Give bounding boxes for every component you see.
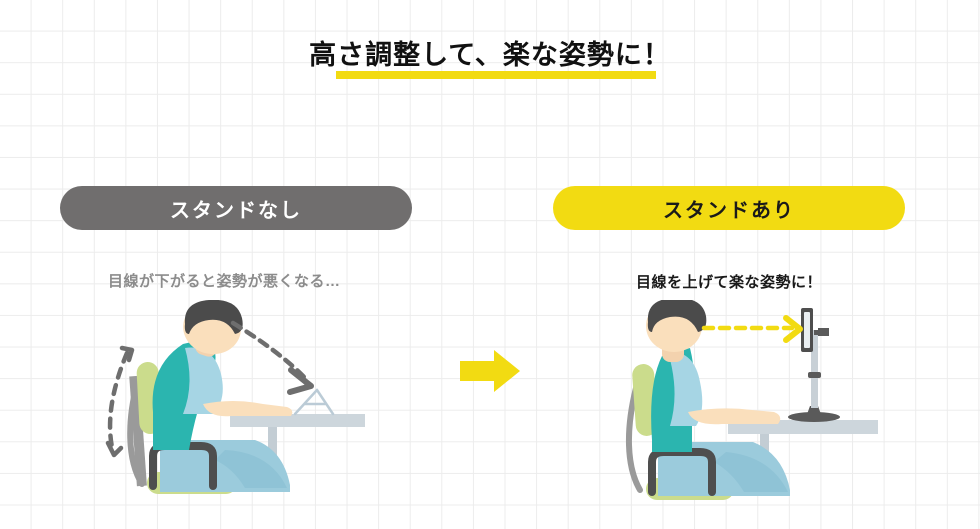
illustration-good-posture — [618, 300, 878, 529]
illustration-hunched-posture — [105, 300, 365, 529]
transition-arrow — [458, 348, 522, 394]
title-container: 高さ調整して、楽な姿勢に！ — [0, 42, 980, 75]
person-forearm-left — [203, 401, 292, 416]
label-pill-with-stand-text: スタンドあり — [663, 194, 795, 223]
gaze-arrow-right — [704, 318, 800, 340]
gaze-arrow-left — [233, 323, 311, 392]
person-forearm-right — [688, 408, 780, 424]
label-pill-with-stand: スタンドあり — [553, 186, 905, 230]
label-pill-no-stand: スタンドなし — [60, 186, 412, 230]
tablet-stand — [788, 328, 840, 422]
laptop-icon — [295, 390, 333, 414]
infographic-canvas: 高さ調整して、楽な姿勢に！ スタンドなし スタンドあり 目線が下がると姿勢が悪く… — [0, 0, 980, 529]
page-title: 高さ調整して、楽な姿勢に！ — [305, 42, 675, 75]
caption-with-stand: 目線を上げて楽な姿勢に！ — [636, 271, 822, 292]
caption-no-stand: 目線が下がると姿勢が悪くなる… — [108, 270, 341, 291]
label-pill-no-stand-text: スタンドなし — [170, 194, 302, 223]
